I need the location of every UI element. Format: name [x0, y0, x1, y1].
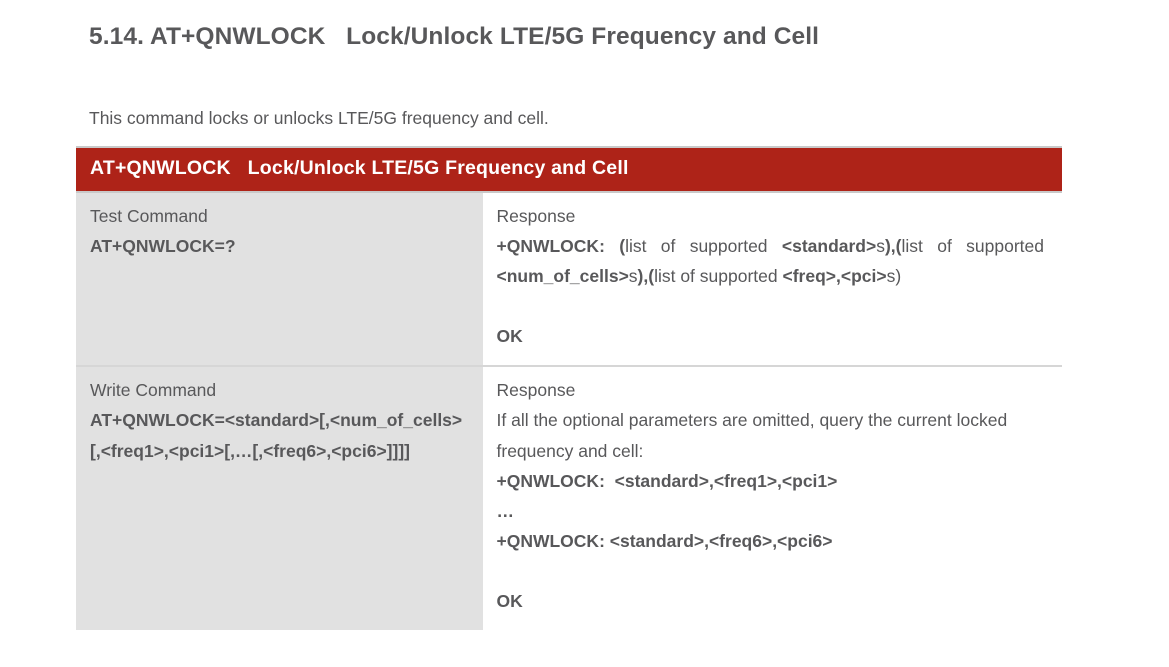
- at-command-table: AT+QNWLOCK Lock/Unlock LTE/5G Frequency …: [76, 146, 1062, 630]
- write-response-line-2: +QNWLOCK: <standard>,<freq6>,<pci6>: [497, 526, 1045, 556]
- write-response-cell: Response If all the optional parameters …: [483, 366, 1062, 630]
- response-fragment: list of supported: [625, 236, 782, 256]
- response-fragment: <freq>,<pci>: [782, 266, 886, 286]
- test-response-cell: Response +QNWLOCK: (list of supported <s…: [483, 192, 1062, 366]
- document-page: 5.14. AT+QNWLOCK Lock/Unlock LTE/5G Freq…: [0, 0, 1169, 667]
- cell-spacer: [90, 261, 469, 325]
- response-fragment: +QNWLOCK:: [497, 236, 605, 256]
- response-fragment: <num_of_cells>: [497, 266, 629, 286]
- write-response-line-1: +QNWLOCK: <standard>,<freq1>,<pci1>: [497, 466, 1045, 496]
- write-command-syntax: AT+QNWLOCK=<standard>[,<num_of_cells>[,<…: [90, 405, 469, 465]
- response-fragment: <standard>: [782, 236, 876, 256]
- test-response-label: Response: [497, 201, 1045, 231]
- response-fragment: list of supported: [902, 236, 1044, 256]
- response-fragment: s: [629, 266, 638, 286]
- write-response-note: If all the optional parameters are omitt…: [497, 405, 1045, 465]
- page-title: 5.14. AT+QNWLOCK Lock/Unlock LTE/5G Freq…: [89, 22, 1069, 51]
- table-header-row: AT+QNWLOCK Lock/Unlock LTE/5G Frequency …: [76, 147, 1062, 192]
- test-command-label: Test Command: [90, 201, 469, 231]
- response-fragment: ),(: [885, 236, 902, 256]
- write-response-ok: OK: [497, 586, 1045, 616]
- cell-spacer: [90, 466, 469, 578]
- cell-spacer: [497, 556, 1045, 586]
- test-response-ok: OK: [497, 321, 1045, 351]
- response-fragment: s): [887, 266, 902, 286]
- test-command-syntax: AT+QNWLOCK=?: [90, 231, 469, 261]
- table-header-cell: AT+QNWLOCK Lock/Unlock LTE/5G Frequency …: [76, 147, 1062, 192]
- response-fragment: list of supported: [654, 266, 782, 286]
- cell-spacer: [497, 291, 1045, 321]
- response-fragment: ),(: [638, 266, 655, 286]
- write-command-cell: Write Command AT+QNWLOCK=<standard>[,<nu…: [76, 366, 483, 630]
- write-response-ellipsis: …: [497, 496, 1045, 526]
- test-command-cell: Test Command AT+QNWLOCK=?: [76, 192, 483, 366]
- table-header-title: AT+QNWLOCK Lock/Unlock LTE/5G Frequency …: [90, 157, 1048, 180]
- intro-paragraph: This command locks or unlocks LTE/5G fre…: [89, 106, 1039, 131]
- response-fragment: (: [605, 236, 625, 256]
- test-response-text: +QNWLOCK: (list of supported <standard>s…: [497, 231, 1045, 291]
- write-response-label: Response: [497, 375, 1045, 405]
- response-fragment: s: [876, 236, 885, 256]
- table-row: Test Command AT+QNWLOCK=? Response +QNWL…: [76, 192, 1062, 366]
- table-row: Write Command AT+QNWLOCK=<standard>[,<nu…: [76, 366, 1062, 630]
- write-command-label: Write Command: [90, 375, 469, 405]
